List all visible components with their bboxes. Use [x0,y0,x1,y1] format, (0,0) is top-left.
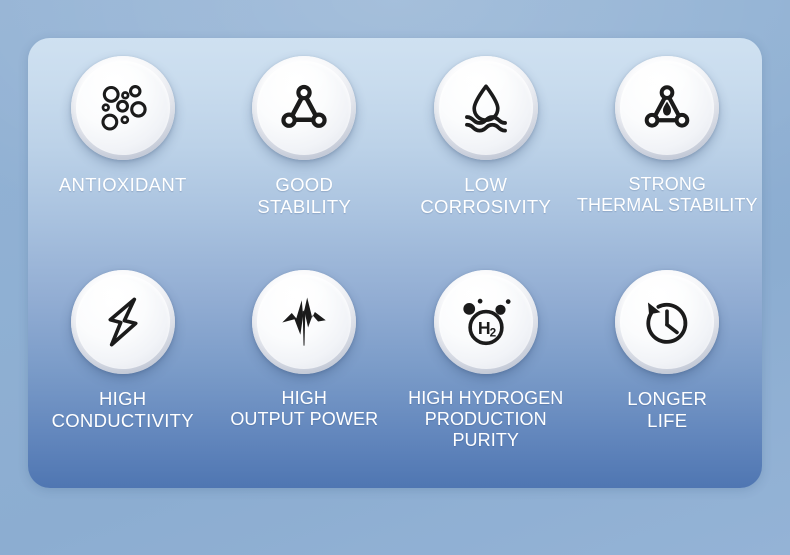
molecule-triangle-icon [275,79,333,137]
feature-grid: ANTIOXIDANT [28,38,762,488]
feature-label: LOW CORROSIVITY [420,174,551,218]
feature-item-antioxidant[interactable]: ANTIOXIDANT [32,48,214,262]
clock-rewind-icon [638,293,696,351]
feature-item-high-conductivity[interactable]: HIGH CONDUCTIVITY [32,262,214,476]
feature-label: HIGH HYDROGEN PRODUCTION PURITY [395,388,577,452]
feature-item-strong-thermal-stability[interactable]: STRONG THERMAL STABILITY [577,48,759,262]
feature-label: GOOD STABILITY [257,174,351,218]
h2-letter: H [478,318,491,338]
feature-label: HIGH CONDUCTIVITY [52,388,194,432]
pulse-spike-icon [275,293,333,351]
feature-icon-badge [434,56,538,160]
feature-item-longer-life[interactable]: LONGER LIFE [577,262,759,476]
feature-icon-badge [71,56,175,160]
feature-label: LONGER LIFE [627,388,707,432]
infographic-screen: ANTIOXIDANT [0,0,790,555]
feature-icon-badge [615,270,719,374]
feature-icon-badge [252,56,356,160]
feature-icon-badge [71,270,175,374]
feature-icon-badge: H 2 [434,270,538,374]
feature-panel: ANTIOXIDANT [28,38,762,488]
feature-label: HIGH OUTPUT POWER [230,388,378,430]
feature-item-low-corrosivity[interactable]: LOW CORROSIVITY [395,48,577,262]
feature-icon-badge [615,56,719,160]
feature-item-high-output-power[interactable]: HIGH OUTPUT POWER [214,262,396,476]
h2-molecule-icon: H 2 [457,293,515,351]
bubbles-icon [94,79,152,137]
feature-label: ANTIOXIDANT [59,174,187,196]
feature-icon-badge [252,270,356,374]
molecule-triangle-flame-icon [638,79,696,137]
lightning-bolt-icon [94,293,152,351]
feature-item-high-hydrogen-production-purity[interactable]: H 2 HIGH HYDROGEN PRODUCTION PURITY [395,262,577,476]
feature-label: STRONG THERMAL STABILITY [577,174,758,216]
h2-subscript: 2 [489,327,496,340]
feature-item-good-stability[interactable]: GOOD STABILITY [214,48,396,262]
water-droplet-waves-icon [457,79,515,137]
